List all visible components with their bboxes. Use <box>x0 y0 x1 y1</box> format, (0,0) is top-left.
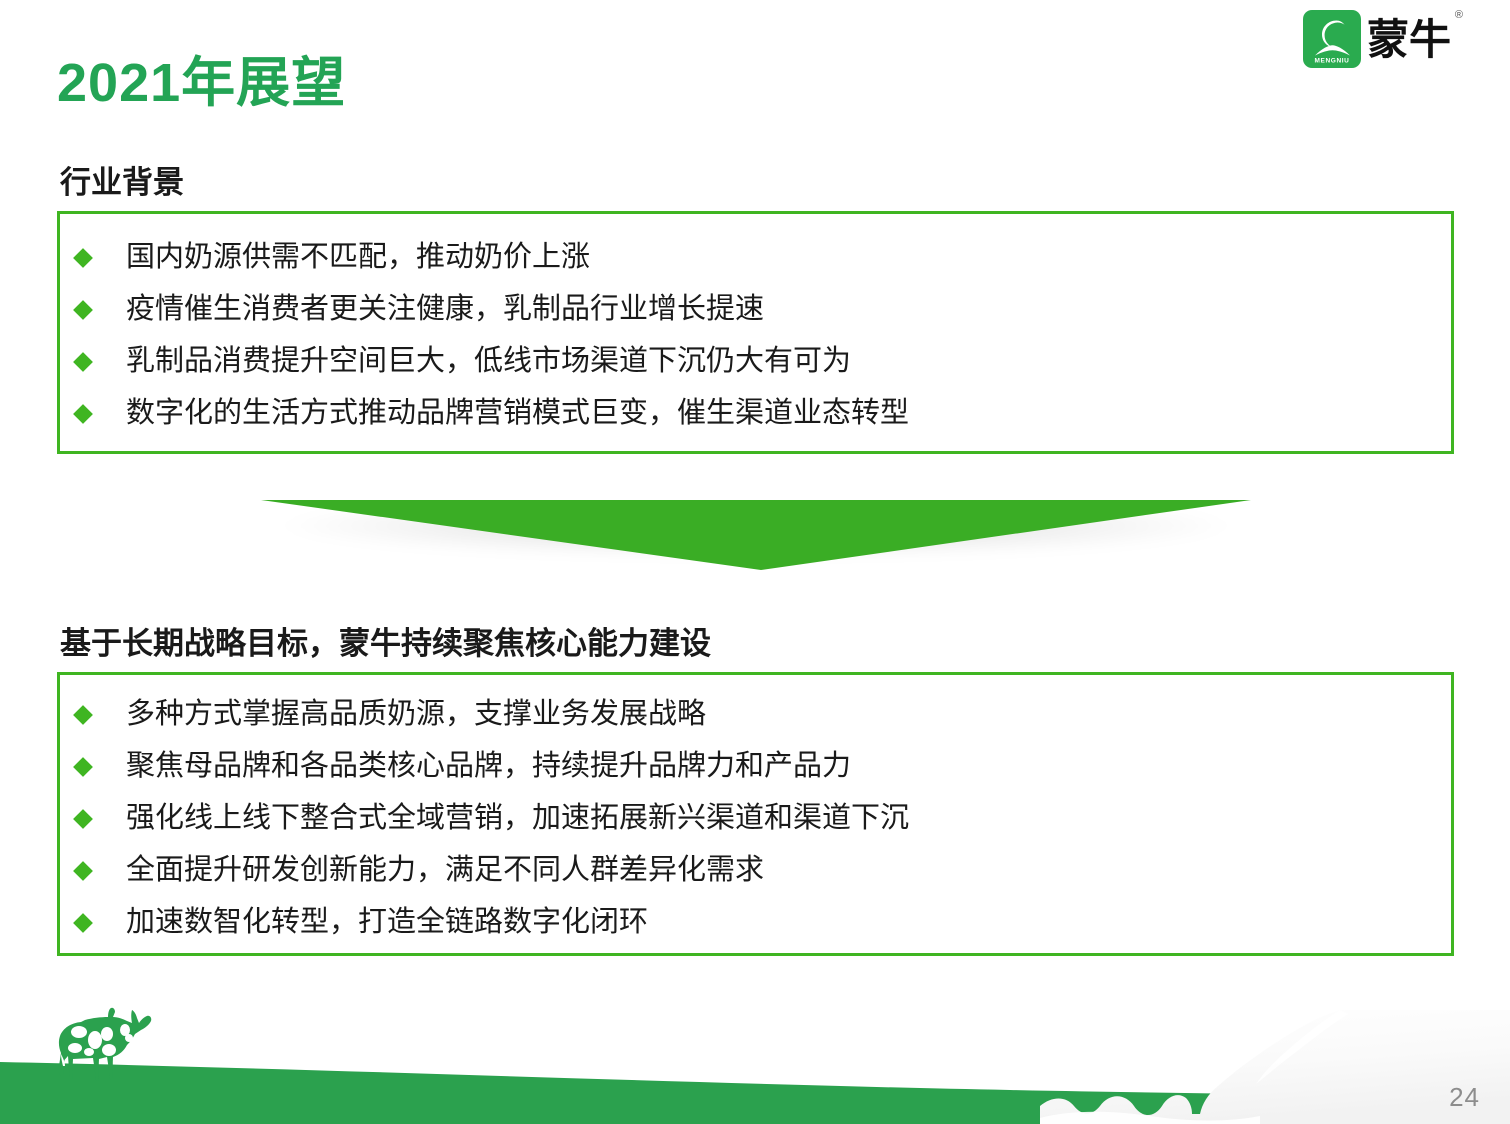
list-item: 强化线上线下整合式全域营销，加速拓展新兴渠道和渠道下沉 <box>60 793 1451 845</box>
diamond-bullet-icon <box>73 861 93 881</box>
page-title: 2021年展望 <box>57 38 346 117</box>
milk-splash-graphic <box>1040 1010 1510 1124</box>
list-item: 数字化的生活方式推动品牌营销模式巨变，催生渠道业态转型 <box>60 388 1451 440</box>
bullet-text: 乳制品消费提升空间巨大，低线市场渠道下沉仍大有可为 <box>126 346 851 378</box>
diamond-bullet-icon <box>73 404 93 424</box>
list-item: 多种方式掌握高品质奶源，支撑业务发展战略 <box>60 689 1451 741</box>
down-arrow <box>261 500 1251 570</box>
bullet-text: 强化线上线下整合式全域营销，加速拓展新兴渠道和渠道下沉 <box>126 803 909 835</box>
page-number: 24 <box>1449 1082 1480 1113</box>
list-item: 疫情催生消费者更关注健康，乳制品行业增长提速 <box>60 284 1451 336</box>
registered-trademark-icon: ® <box>1455 10 1463 21</box>
bullet-text: 多种方式掌握高品质奶源，支撑业务发展战略 <box>126 699 706 731</box>
bullet-text: 国内奶源供需不匹配，推动奶价上涨 <box>126 242 590 274</box>
diamond-bullet-icon <box>73 705 93 725</box>
bullet-text: 疫情催生消费者更关注健康，乳制品行业增长提速 <box>126 294 764 326</box>
diamond-bullet-icon <box>73 300 93 320</box>
section-heading-industry-background: 行业背景 <box>60 157 184 202</box>
diamond-bullet-icon <box>73 248 93 268</box>
logo-mark-text: MENGNIU <box>1315 58 1350 65</box>
crescent-cow-icon: MENGNIU <box>1303 10 1361 68</box>
list-item: 乳制品消费提升空间巨大，低线市场渠道下沉仍大有可为 <box>60 336 1451 388</box>
mengniu-wordmark: 蒙牛 <box>1367 14 1463 64</box>
slide-canvas: MENGNIU 蒙牛 ® 2021年展望 行业背景 国内奶源供需不匹配，推动奶价… <box>0 0 1510 1124</box>
section-heading-strategy: 基于长期战略目标，蒙牛持续聚焦核心能力建设 <box>60 618 711 663</box>
diamond-bullet-icon <box>73 352 93 372</box>
mengniu-logo: MENGNIU 蒙牛 ® <box>1303 10 1463 72</box>
list-item: 国内奶源供需不匹配，推动奶价上涨 <box>60 232 1451 284</box>
mengniu-logo-mark: MENGNIU <box>1303 10 1361 68</box>
diamond-bullet-icon <box>73 809 93 829</box>
bullet-text: 加速数智化转型，打造全链路数字化闭环 <box>126 907 648 939</box>
list-item: 加速数智化转型，打造全链路数字化闭环 <box>60 897 1451 949</box>
diamond-bullet-icon <box>73 913 93 933</box>
strategy-capability-box: 多种方式掌握高品质奶源，支撑业务发展战略 聚焦母品牌和各品类核心品牌，持续提升品… <box>57 672 1454 956</box>
diamond-bullet-icon <box>73 757 93 777</box>
list-item: 全面提升研发创新能力，满足不同人群差异化需求 <box>60 845 1451 897</box>
bullet-text: 数字化的生活方式推动品牌营销模式巨变，催生渠道业态转型 <box>126 398 909 430</box>
bullet-text: 全面提升研发创新能力，满足不同人群差异化需求 <box>126 855 764 887</box>
bullet-text: 聚焦母品牌和各品类核心品牌，持续提升品牌力和产品力 <box>126 751 851 783</box>
cow-illustration-icon <box>45 1004 185 1086</box>
wordmark-characters: 蒙牛 <box>1367 15 1451 64</box>
list-item: 聚焦母品牌和各品类核心品牌，持续提升品牌力和产品力 <box>60 741 1451 793</box>
industry-background-box: 国内奶源供需不匹配，推动奶价上涨 疫情催生消费者更关注健康，乳制品行业增长提速 … <box>57 211 1454 454</box>
